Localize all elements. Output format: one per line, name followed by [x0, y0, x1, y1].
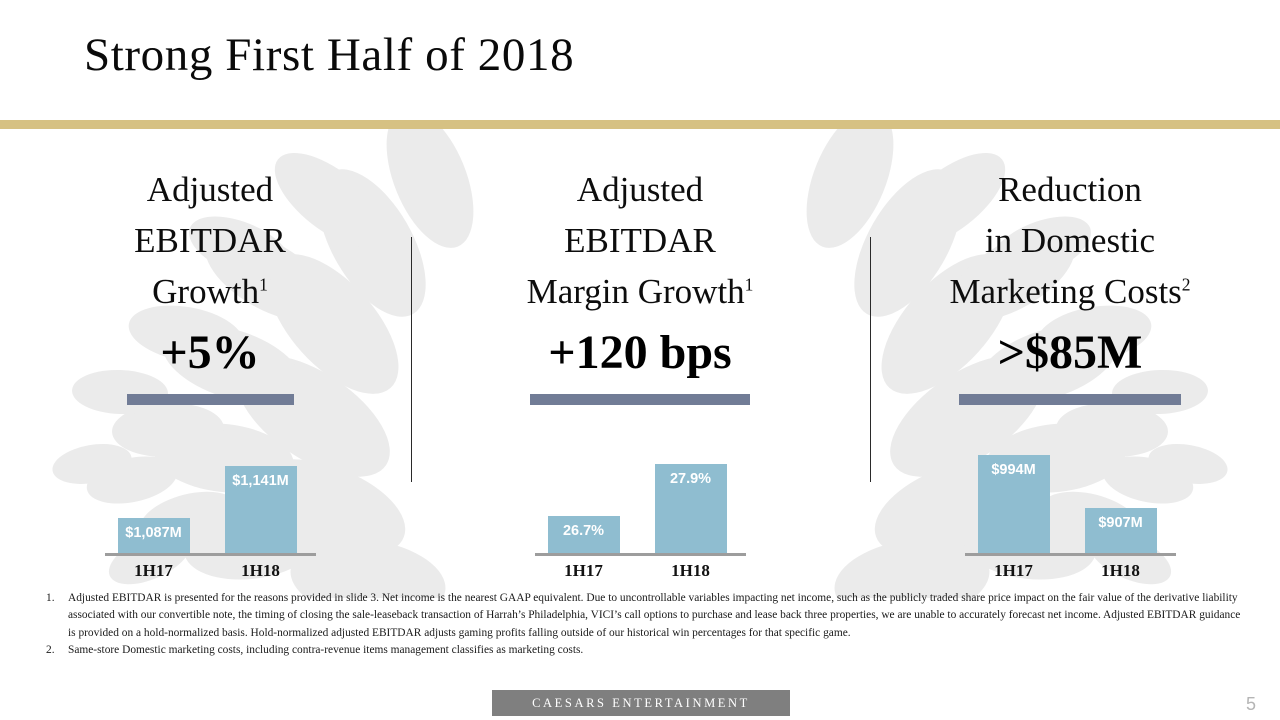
footnotes: 1. Adjusted EBITDAR is presented for the…	[46, 590, 1241, 660]
footnote-marker: 1	[745, 274, 754, 294]
footnote-number: 2.	[46, 642, 64, 659]
bar-value-label: 27.9%	[655, 471, 727, 487]
title-area: Strong First Half of 2018	[0, 0, 1280, 120]
bar-value-label: 26.7%	[548, 523, 620, 539]
bar: $1,141M	[225, 466, 297, 556]
metric-value: +5%	[20, 325, 400, 380]
slide: Strong First Half of 2018 Adjusted EBITD…	[0, 0, 1280, 720]
heading-line-3-text: Growth	[152, 272, 259, 311]
x-axis-line	[535, 553, 746, 556]
company-logo-text: CAESARS ENTERTAINMENT	[532, 696, 750, 711]
metric-underline	[530, 394, 750, 405]
x-tick-label: 1H17	[548, 561, 620, 581]
metric-value: >$85M	[880, 325, 1260, 380]
bar-chart-margin: 26.7% 27.9% 1H17 1H18	[430, 430, 850, 590]
metrics-columns: Adjusted EBITDAR Growth1 +5% $1,087M	[0, 150, 1280, 590]
footnote-marker: 1	[259, 274, 268, 294]
gold-divider-rule	[0, 120, 1280, 129]
metric-value: +120 bps	[430, 325, 850, 380]
x-tick-label: 1H17	[118, 561, 190, 581]
footnote-marker: 2	[1182, 274, 1191, 294]
heading-line-2: EBITDAR	[430, 215, 850, 266]
chart-plot: $1,087M $1,141M	[103, 430, 318, 556]
heading-line-1: Reduction	[880, 164, 1260, 215]
bar: 27.9%	[655, 464, 727, 556]
company-logo-badge: CAESARS ENTERTAINMENT	[492, 690, 790, 716]
metric-underline	[959, 394, 1181, 405]
column-heading: Reduction in Domestic Marketing Costs2	[880, 164, 1260, 317]
heading-line-1: Adjusted	[20, 164, 400, 215]
x-tick-label: 1H17	[978, 561, 1050, 581]
chart-plot: 26.7% 27.9%	[533, 430, 748, 556]
bar-group-1h17: $994M	[978, 455, 1050, 556]
heading-line-3-text: Marketing Costs	[949, 272, 1181, 311]
footnote-item: 1. Adjusted EBITDAR is presented for the…	[46, 590, 1241, 642]
x-axis-line	[105, 553, 316, 556]
footnote-number: 1.	[46, 590, 64, 607]
metric-underline	[127, 394, 294, 405]
bar-value-label: $1,087M	[118, 525, 190, 541]
bar-chart-marketing: $994M $907M 1H17 1H18	[880, 430, 1260, 590]
bar: $907M	[1085, 508, 1157, 556]
heading-line-3-text: Margin Growth	[527, 272, 745, 311]
bar-group-1h17: 26.7%	[548, 516, 620, 556]
metric-column-marketing-costs: Reduction in Domestic Marketing Costs2 >…	[880, 150, 1260, 590]
x-tick-label: 1H18	[225, 561, 297, 581]
heading-line-2: in Domestic	[880, 215, 1260, 266]
bar-group-1h18: $1,141M	[225, 466, 297, 556]
x-axis-tick-labels: 1H17 1H18	[103, 561, 318, 585]
metric-column-ebitdar-growth: Adjusted EBITDAR Growth1 +5% $1,087M	[20, 150, 400, 590]
bar-value-label: $1,141M	[225, 473, 297, 489]
column-heading: Adjusted EBITDAR Growth1	[20, 164, 400, 317]
bar: $1,087M	[118, 518, 190, 556]
page-title: Strong First Half of 2018	[84, 28, 574, 82]
footnote-text: Adjusted EBITDAR is presented for the re…	[68, 590, 1241, 642]
heading-line-3: Margin Growth1	[430, 266, 850, 317]
footnote-text: Same-store Domestic marketing costs, inc…	[68, 642, 1241, 659]
x-axis-tick-labels: 1H17 1H18	[533, 561, 748, 585]
bar-group-1h18: 27.9%	[655, 464, 727, 556]
heading-line-3: Growth1	[20, 266, 400, 317]
metric-column-margin-growth: Adjusted EBITDAR Margin Growth1 +120 bps…	[430, 150, 850, 590]
chart-plot: $994M $907M	[963, 430, 1178, 556]
x-axis-line	[965, 553, 1176, 556]
x-tick-label: 1H18	[655, 561, 727, 581]
x-axis-tick-labels: 1H17 1H18	[963, 561, 1178, 585]
column-heading: Adjusted EBITDAR Margin Growth1	[430, 164, 850, 317]
page-number: 5	[1246, 694, 1256, 715]
x-tick-label: 1H18	[1085, 561, 1157, 581]
bar: 26.7%	[548, 516, 620, 556]
bar-chart-ebitdar: $1,087M $1,141M 1H17 1H18	[20, 430, 400, 590]
bar: $994M	[978, 455, 1050, 556]
heading-line-1: Adjusted	[430, 164, 850, 215]
bar-value-label: $994M	[978, 462, 1050, 478]
heading-line-3: Marketing Costs2	[880, 266, 1260, 317]
bar-group-1h18: $907M	[1085, 508, 1157, 556]
footnote-item: 2. Same-store Domestic marketing costs, …	[46, 642, 1241, 659]
heading-line-2: EBITDAR	[20, 215, 400, 266]
bar-value-label: $907M	[1085, 515, 1157, 531]
bar-group-1h17: $1,087M	[118, 518, 190, 556]
